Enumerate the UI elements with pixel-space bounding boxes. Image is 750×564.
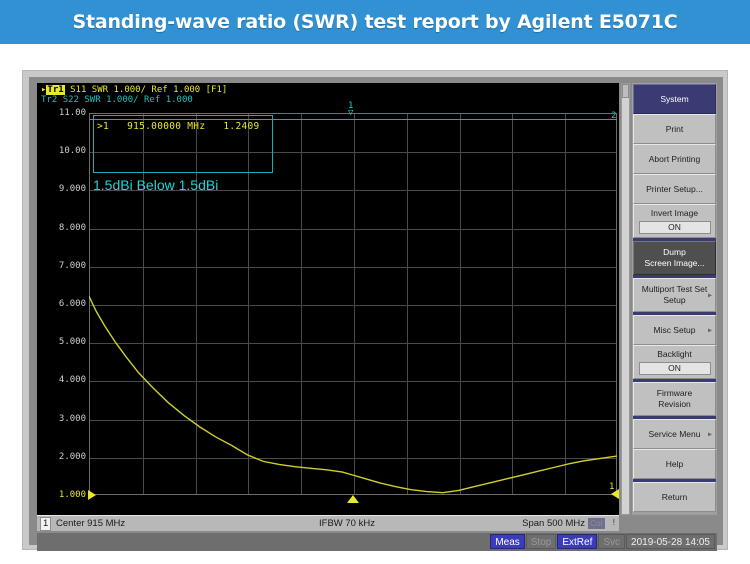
trace2-header[interactable]: Tr2 S22 SWR 1.000/ Ref 1.000	[41, 95, 193, 105]
trace2-name: Tr2	[41, 95, 57, 105]
softkey-label: Print	[666, 124, 683, 135]
x-axis-marker-triangle-icon	[347, 495, 359, 503]
softkey-scrollbar[interactable]	[621, 83, 630, 515]
graph-panel: ▸Tr1 S11 SWR 1.000/ Ref 1.000 [F1] Tr2 S…	[37, 83, 619, 515]
softkey-abort-printing[interactable]: Abort Printing	[633, 144, 716, 174]
gain-annotation: 1.5dBi Below 1.5dBi	[93, 177, 218, 193]
y-tick-label: 7.000	[39, 261, 89, 271]
y-tick-label: 1.000	[39, 490, 89, 500]
y-tick-label: 6.000	[39, 299, 89, 309]
trace2-param: S22	[63, 95, 79, 105]
softkey-printer-setup[interactable]: Printer Setup...	[633, 174, 716, 204]
y-tick-label: 8.000	[39, 223, 89, 233]
y-tick-label: 5.000	[39, 337, 89, 347]
trace2-scale: 1.000/	[106, 95, 139, 105]
softkey-label: Backlight	[657, 349, 692, 360]
softkey-multiport-test-set-setup[interactable]: Multiport Test SetSetup▸	[633, 278, 716, 312]
title-bar: Standing-wave ratio (SWR) test report by…	[0, 0, 750, 44]
softkey-label: Return	[662, 492, 688, 503]
trace1-header[interactable]: ▸Tr1 S11 SWR 1.000/ Ref 1.000 [F1]	[41, 85, 227, 95]
softkey-label: FirmwareRevision	[657, 388, 692, 410]
y-tick-label: 10.00	[39, 146, 89, 156]
softkey-label: Service Menu	[649, 429, 701, 440]
softkey-label: Printer Setup...	[646, 184, 703, 195]
marker-down-triangle-icon: ▽	[348, 110, 353, 117]
channel-status-bar: 1 Center 915 MHz IFBW 70 kHz Span 500 MH…	[37, 515, 619, 531]
softkey-invert-image[interactable]: Invert ImageON	[633, 204, 716, 238]
y-tick-label: 4.000	[39, 375, 89, 385]
softkey-print[interactable]: Print	[633, 114, 716, 144]
scrollbar-thumb[interactable]	[622, 84, 629, 98]
chevron-right-icon: ▸	[708, 325, 712, 336]
softkey-label: Help	[666, 459, 683, 470]
status-meas[interactable]: Meas	[490, 534, 524, 549]
trace1-ref-label: Ref	[151, 85, 167, 95]
trace1-param: S11	[70, 85, 86, 95]
softkey-firmware-revision[interactable]: FirmwareRevision	[633, 382, 716, 416]
channel-number: 1	[40, 517, 51, 531]
softkey-label: DumpScreen Image...	[644, 247, 704, 269]
exclamation-indicator: !	[613, 518, 615, 527]
softkey-label: Misc Setup	[653, 325, 695, 336]
ifbw-setting[interactable]: IFBW 70 kHz	[319, 518, 375, 529]
softkey-system: System	[633, 84, 716, 114]
softkey-dump-screen-image[interactable]: DumpScreen Image...	[633, 241, 716, 275]
trace1-ref: 1.000	[173, 85, 200, 95]
right-edge-marker-icon	[611, 489, 619, 499]
trace2-format: SWR	[84, 95, 100, 105]
vna-screen: ▸Tr1 S11 SWR 1.000/ Ref 1.000 [F1] Tr2 S…	[29, 77, 723, 545]
marker-1-trace2[interactable]: 1 ▽	[348, 102, 353, 117]
softkey-service-menu[interactable]: Service Menu▸	[633, 419, 716, 449]
trace1-channel: [F1]	[206, 85, 228, 95]
trace1-scale: 1.000/	[113, 85, 146, 95]
softkey-value[interactable]: ON	[639, 221, 711, 234]
center-frequency[interactable]: Center 915 MHz	[56, 518, 125, 529]
span-setting[interactable]: Span 500 MHz	[522, 518, 585, 529]
y-tick-label: 3.000	[39, 414, 89, 424]
marker-readout-text: >1 915.00000 MHz 1.2409	[97, 121, 260, 132]
softkey-panel: SystemPrintAbort PrintingPrinter Setup..…	[632, 83, 717, 515]
softkey-help[interactable]: Help	[633, 449, 716, 479]
y-tick-label: 11.00	[39, 108, 89, 118]
trace2-ref-label: Ref	[144, 95, 160, 105]
softkey-label: Invert Image	[651, 208, 698, 219]
softkey-label: Multiport Test SetSetup	[642, 284, 708, 306]
trace1-name: Tr1	[46, 85, 64, 95]
softkey-label: System	[660, 94, 688, 105]
y-tick-label: 2.000	[39, 452, 89, 462]
page-title: Standing-wave ratio (SWR) test report by…	[0, 0, 750, 44]
chevron-right-icon: ▸	[708, 290, 712, 301]
softkey-value[interactable]: ON	[639, 362, 711, 375]
status-extref[interactable]: ExtRef	[557, 534, 597, 549]
datetime-display: 2019-05-28 14:05	[626, 534, 715, 549]
status-indicator-group: MeasStopExtRefSvc2019-05-28 14:05	[489, 534, 715, 549]
trace1-format: SWR	[92, 85, 108, 95]
y-tick-label: 9.000	[39, 184, 89, 194]
softkey-return[interactable]: Return	[633, 482, 716, 512]
status-svc[interactable]: Svc	[598, 534, 625, 549]
status-stop[interactable]: Stop	[526, 534, 557, 549]
y-axis-labels: 11.0010.009.0008.0007.0006.0005.0004.000…	[37, 113, 89, 495]
instrument-status-bar: MeasStopExtRefSvc2019-05-28 14:05	[37, 533, 717, 551]
softkey-backlight[interactable]: BacklightON	[633, 345, 716, 379]
trace2-ref: 1.000	[166, 95, 193, 105]
chevron-right-icon: ▸	[708, 429, 712, 440]
softkey-misc-setup[interactable]: Misc Setup▸	[633, 315, 716, 345]
softkey-label: Abort Printing	[649, 154, 701, 165]
vna-chassis: ▸Tr1 S11 SWR 1.000/ Ref 1.000 [F1] Tr2 S…	[22, 70, 728, 550]
correction-indicator: Cor	[588, 518, 605, 529]
